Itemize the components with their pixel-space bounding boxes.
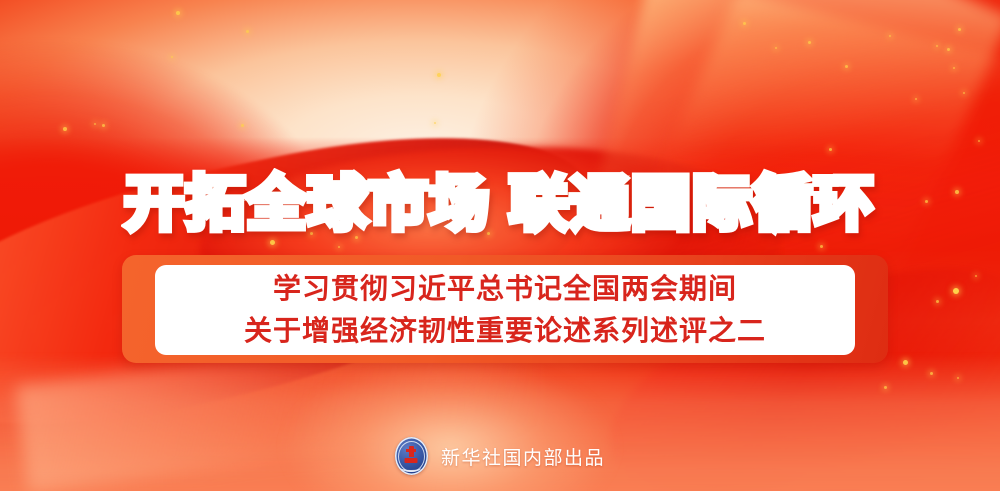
sparkle-dot — [936, 45, 938, 47]
sparkle-dot — [743, 22, 746, 25]
sparkle-dot — [63, 127, 67, 131]
sparkle-dot — [94, 123, 96, 125]
sparkle-dot — [915, 98, 917, 100]
sparkle-dot — [775, 47, 777, 49]
sparkle-dot — [246, 30, 249, 33]
subtitle-line-2: 关于增强经济韧性重要论述系列述评之二 — [244, 311, 766, 351]
logo-cross-bar — [406, 449, 416, 452]
sparkle-dot — [947, 48, 950, 51]
sparkle-dot — [953, 67, 955, 69]
subtitle-line-1: 学习贯彻习近平总书记全国两会期间 — [273, 269, 737, 309]
xinhua-emblem-icon — [395, 437, 428, 475]
main-title-container: 开拓全球市场 联通国际循环 — [0, 134, 1000, 275]
sparkle-dot — [171, 56, 173, 58]
page-title: 开拓全球市场 联通国际循环 — [125, 174, 875, 236]
sparkle-dot — [936, 300, 939, 303]
footer-credit-bar: 新华社国内部出品 — [0, 437, 1000, 475]
sparkle-dot — [963, 92, 965, 94]
logo-bottom-arc — [401, 464, 421, 472]
sparkle-dot — [437, 73, 441, 77]
sparkle-dot — [958, 28, 961, 31]
sparkle-dot — [975, 275, 977, 277]
sparkle-dot — [957, 377, 959, 379]
sparkle-dot — [176, 11, 180, 15]
sparkle-dot — [930, 372, 933, 375]
subtitle-card: 学习贯彻习近平总书记全国两会期间 关于增强经济韧性重要论述系列述评之二 — [155, 265, 855, 355]
sparkle-dot — [845, 65, 848, 68]
sparkle-dot — [903, 360, 908, 365]
sparkle-dot — [953, 288, 959, 294]
footer-credit-text: 新华社国内部出品 — [441, 443, 605, 470]
sparkle-dot — [102, 124, 105, 127]
sparkle-dot — [884, 386, 887, 389]
sparkle-dot — [889, 35, 891, 37]
sparkle-dot — [434, 122, 436, 124]
news-banner: 开拓全球市场 联通国际循环 学习贯彻习近平总书记全国两会期间 关于增强经济韧性重… — [0, 0, 1000, 491]
sparkle-dot — [808, 41, 811, 44]
sparkle-dot — [241, 124, 244, 127]
